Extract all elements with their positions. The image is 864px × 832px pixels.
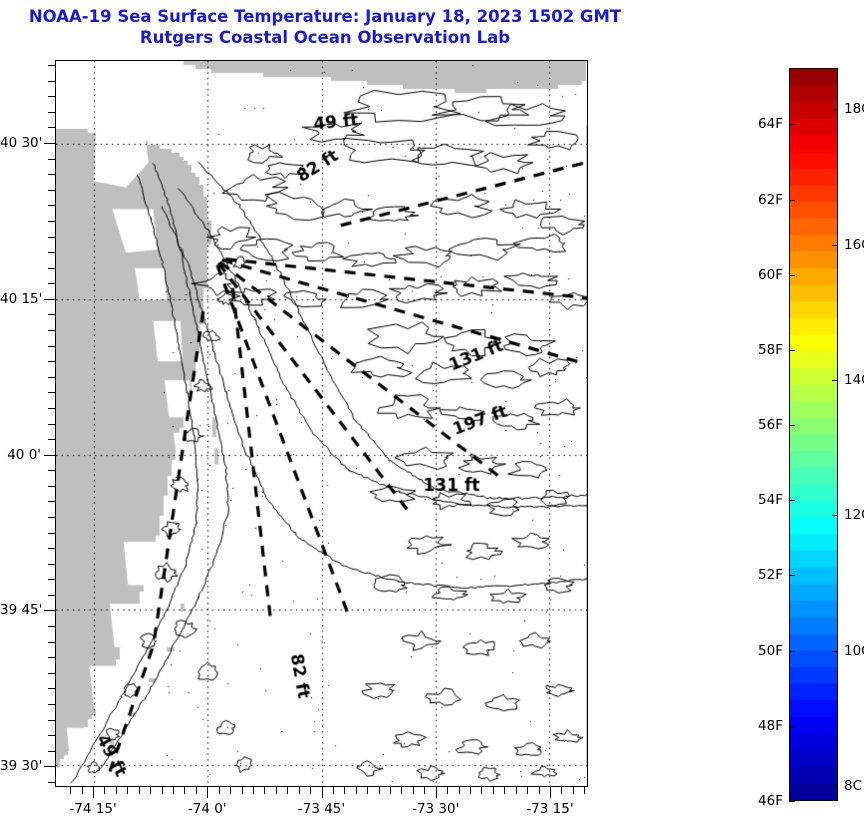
colorbar-label-celsius: 16C [844,237,864,253]
x-tick-minor [424,787,425,794]
colorbar-tick-f [789,425,795,426]
x-tick-minor [573,787,574,794]
colorbar-tick-f [789,500,795,501]
colorbar-label-celsius: 12C [844,507,864,523]
colorbar-tick-f [789,575,795,576]
y-tick-minor [48,159,55,160]
y-tick-minor [48,579,55,580]
colorbar-label-fahrenheit: 50F [727,643,783,659]
x-axis-label: -73 30' [386,801,486,817]
x-tick-minor [219,787,220,794]
y-tick-minor [48,190,55,191]
x-axis-label: -73 15' [500,801,600,817]
colorbar-tick-c [832,109,838,110]
colorbar-label-celsius: 14C [844,372,864,388]
x-tick-major [322,787,323,798]
y-tick-minor [48,112,55,113]
x-tick-minor [481,787,482,794]
x-tick-minor [367,787,368,794]
x-tick-minor [104,787,105,794]
x-tick-minor [299,787,300,794]
y-tick-minor [48,237,55,238]
x-tick-major [93,787,94,798]
colorbar-gradient [790,69,837,800]
y-tick-minor [48,81,55,82]
y-tick-minor [48,548,55,549]
x-tick-minor [561,787,562,794]
x-axis-label: -74 0' [157,801,257,817]
y-tick-minor [48,782,55,783]
x-tick-minor [116,787,117,794]
y-tick-minor [48,377,55,378]
colorbar-label-fahrenheit: 54F [727,492,783,508]
colorbar[interactable] [789,68,838,801]
y-tick-minor [48,595,55,596]
colorbar-label-fahrenheit: 52F [727,567,783,583]
y-tick-minor [48,205,55,206]
x-tick-minor [459,787,460,794]
y-tick-minor [48,408,55,409]
x-tick-minor [230,787,231,794]
y-tick-major [44,766,55,767]
title-line-secondary: Rutgers Coastal Ocean Observation Lab [0,27,650,48]
colorbar-tick-c [832,651,838,652]
y-tick-minor [48,657,55,658]
x-tick-minor [150,787,151,794]
y-tick-minor [48,751,55,752]
x-tick-minor [139,787,140,794]
y-tick-minor [48,174,55,175]
colorbar-tick-f [789,350,795,351]
x-tick-minor [390,787,391,794]
y-tick-major [44,455,55,456]
colorbar-label-celsius: 10C [844,643,864,659]
x-tick-minor [242,787,243,794]
x-tick-minor [356,787,357,794]
x-tick-minor [162,787,163,794]
colorbar-label-fahrenheit: 56F [727,417,783,433]
x-axis-label: -73 45' [272,801,372,817]
y-tick-minor [48,361,55,362]
x-tick-minor [173,787,174,794]
y-tick-minor [48,268,55,269]
colorbar-tick-f [789,726,795,727]
colorbar-tick-f [789,275,795,276]
sst-map-figure[interactable] [55,60,588,787]
y-tick-minor [48,65,55,66]
x-tick-minor [287,787,288,794]
y-tick-minor [48,642,55,643]
x-tick-minor [401,787,402,794]
x-tick-minor [413,787,414,794]
colorbar-label-fahrenheit: 48F [727,718,783,734]
y-tick-minor [48,704,55,705]
colorbar-tick-c [832,245,838,246]
colorbar-tick-f [789,801,795,802]
y-tick-minor [48,720,55,721]
y-tick-minor [48,439,55,440]
x-tick-minor [253,787,254,794]
x-tick-major [207,787,208,798]
x-tick-major [436,787,437,798]
y-axis-label: 39 45' [0,602,41,618]
colorbar-label-fahrenheit: 64F [727,116,783,132]
y-tick-minor [48,283,55,284]
y-tick-minor [48,424,55,425]
x-tick-minor [493,787,494,794]
y-tick-minor [48,252,55,253]
x-tick-minor [379,787,380,794]
y-tick-minor [48,486,55,487]
x-tick-minor [333,787,334,794]
colorbar-label-celsius: 18C [844,101,864,117]
colorbar-tick-f [789,200,795,201]
y-tick-minor [48,533,55,534]
y-axis-label: 40 15' [0,291,41,307]
colorbar-label-fahrenheit: 60F [727,267,783,283]
x-tick-minor [196,787,197,794]
x-tick-minor [276,787,277,794]
x-tick-minor [539,787,540,794]
colorbar-tick-c [832,786,838,787]
y-tick-minor [48,96,55,97]
y-axis-label: 39 30' [0,758,41,774]
y-tick-minor [48,346,55,347]
colorbar-tick-f [789,651,795,652]
colorbar-label-fahrenheit: 58F [727,342,783,358]
y-tick-minor [48,392,55,393]
y-tick-minor [48,735,55,736]
x-tick-minor [264,787,265,794]
y-tick-minor [48,517,55,518]
x-tick-major [550,787,551,798]
colorbar-tick-f [789,124,795,125]
y-tick-minor [48,470,55,471]
x-tick-minor [127,787,128,794]
x-tick-minor [447,787,448,794]
y-tick-major [44,143,55,144]
x-tick-minor [504,787,505,794]
colorbar-label-celsius: 8C [844,778,862,794]
y-tick-minor [48,564,55,565]
y-tick-minor [48,127,55,128]
x-tick-minor [516,787,517,794]
x-tick-minor [82,787,83,794]
y-tick-major [44,610,55,611]
x-tick-minor [470,787,471,794]
colorbar-label-fahrenheit: 46F [727,793,783,809]
x-tick-minor [70,787,71,794]
colorbar-tick-c [832,515,838,516]
y-tick-minor [48,673,55,674]
y-tick-minor [48,501,55,502]
x-tick-minor [584,787,585,794]
y-axis-label: 40 0' [0,447,41,463]
x-axis-label: -74 15' [43,801,143,817]
x-tick-minor [527,787,528,794]
x-tick-minor [344,787,345,794]
y-tick-minor [48,626,55,627]
sst-map-canvas[interactable] [56,61,587,786]
y-axis-label: 40 30' [0,135,41,151]
y-tick-minor [48,221,55,222]
y-tick-major [44,299,55,300]
x-tick-minor [184,787,185,794]
colorbar-tick-c [832,380,838,381]
title-line-primary: NOAA-19 Sea Surface Temperature: January… [0,6,650,27]
page-title: NOAA-19 Sea Surface Temperature: January… [0,6,650,48]
y-tick-minor [48,330,55,331]
x-tick-minor [310,787,311,794]
colorbar-label-fahrenheit: 62F [727,192,783,208]
y-tick-minor [48,688,55,689]
y-tick-minor [48,314,55,315]
